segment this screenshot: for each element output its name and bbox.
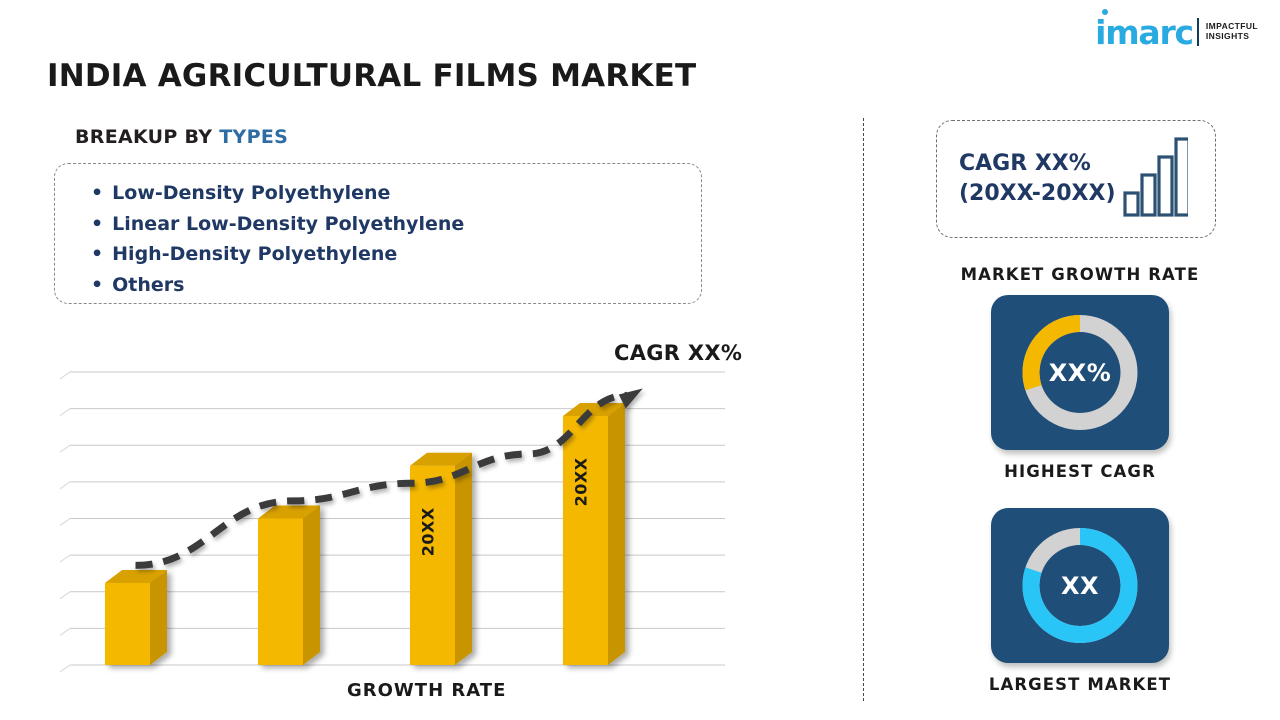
- logo-tagline-line2: INSIGHTS: [1206, 32, 1258, 42]
- chart-bars: 20XX20XX: [105, 403, 625, 665]
- svg-text:20XX: 20XX: [419, 507, 438, 556]
- list-item: High-Density Polyethylene: [91, 239, 701, 270]
- bar-chart-icon-svg: [1122, 136, 1188, 218]
- largest-market-tile: XX: [991, 508, 1169, 663]
- vertical-divider: [863, 118, 864, 701]
- market-growth-rate-box: CAGR XX% (20XX-20XX): [936, 120, 1216, 238]
- list-item: Linear Low-Density Polyethylene: [91, 209, 701, 240]
- growth-rate-line1: CAGR XX%: [959, 149, 1116, 179]
- types-list: Low-Density Polyethylene Linear Low-Dens…: [91, 178, 701, 300]
- market-growth-rate-caption: MARKET GROWTH RATE: [900, 265, 1260, 284]
- slide-canvas: imarc IMPACTFUL INSIGHTS INDIA AGRICULTU…: [0, 0, 1280, 720]
- logo-word-text: imarc: [1095, 13, 1193, 52]
- growth-rate-bar-chart: 20XX20XX: [60, 330, 740, 680]
- logo-tagline: IMPACTFUL INSIGHTS: [1206, 22, 1258, 42]
- growth-rate-text: CAGR XX% (20XX-20XX): [959, 149, 1116, 209]
- bar-chart-icon: [1122, 136, 1188, 223]
- subtitle-accent: TYPES: [219, 126, 288, 148]
- chart-cagr-annotation: CAGR XX%: [614, 341, 742, 365]
- growth-rate-line2: (20XX-20XX): [959, 179, 1116, 209]
- highest-cagr-tile: XX%: [991, 295, 1169, 450]
- svg-text:20XX: 20XX: [572, 457, 591, 506]
- list-item: Others: [91, 270, 701, 301]
- section-subtitle: BREAKUP BY TYPES: [75, 126, 288, 148]
- logo-wordmark: imarc: [1095, 16, 1193, 49]
- imarc-logo: imarc IMPACTFUL INSIGHTS: [1095, 14, 1258, 50]
- highest-cagr-value: XX%: [991, 295, 1169, 450]
- largest-market-value: XX: [991, 508, 1169, 663]
- highest-cagr-caption: HIGHEST CAGR: [900, 462, 1260, 481]
- list-item: Low-Density Polyethylene: [91, 178, 701, 209]
- chart-svg: 20XX20XX: [60, 330, 740, 680]
- logo-divider: [1197, 18, 1199, 46]
- subtitle-prefix: BREAKUP BY: [75, 126, 219, 148]
- largest-market-caption: LARGEST MARKET: [900, 675, 1260, 694]
- page-title: INDIA AGRICULTURAL FILMS MARKET: [47, 58, 696, 94]
- logo-dot-icon: [1102, 9, 1108, 15]
- types-breakup-box: Low-Density Polyethylene Linear Low-Dens…: [54, 163, 702, 304]
- chart-x-axis-label: GROWTH RATE: [347, 680, 506, 701]
